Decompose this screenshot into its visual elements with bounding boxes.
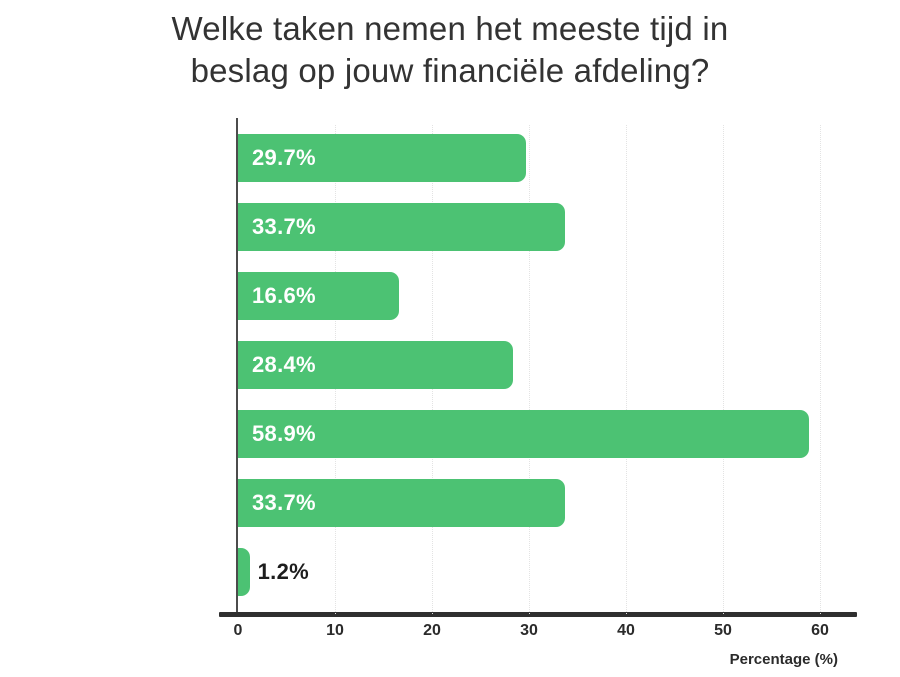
bar[interactable]	[238, 548, 250, 596]
bar-value-label: 16.6%	[252, 272, 316, 320]
x-tick-label: 60	[790, 622, 850, 640]
x-tick-label: 40	[596, 622, 656, 640]
bar-chart-plot-area: Crediteuren/ debiteurenadministratie29.7…	[238, 125, 852, 614]
bar[interactable]	[238, 410, 809, 458]
bar-row: Overig1.2%	[238, 548, 852, 596]
bar-row: Budgettering en prognoses33.7%	[238, 203, 852, 251]
x-tick-label: 20	[402, 622, 462, 640]
bar-value-label: 29.7%	[252, 134, 316, 182]
x-tick-label: 30	[499, 622, 559, 640]
x-tick-label: 0	[208, 622, 268, 640]
bar-value-label: 33.7%	[252, 203, 316, 251]
page-title: Welke taken nemen het meeste tijd in bes…	[0, 8, 900, 92]
bar-row: Salarisverwerking16.6%	[238, 272, 852, 320]
bar-value-label: 1.2%	[258, 548, 309, 596]
x-tick-label: 50	[693, 622, 753, 640]
bar-value-label: 33.7%	[252, 479, 316, 527]
bar-row: Auditing en controle28.4%	[238, 341, 852, 389]
bar-value-label: 58.9%	[252, 410, 316, 458]
x-tick-label: 10	[305, 622, 365, 640]
bar-row: Belastingen33.7%	[238, 479, 852, 527]
bar-value-label: 28.4%	[252, 341, 316, 389]
bar-row: Crediteuren/ debiteurenadministratie29.7…	[238, 134, 852, 182]
bar-row: Rapportage en analyse58.9%	[238, 410, 852, 458]
x-axis-title: Percentage (%)	[0, 651, 838, 668]
